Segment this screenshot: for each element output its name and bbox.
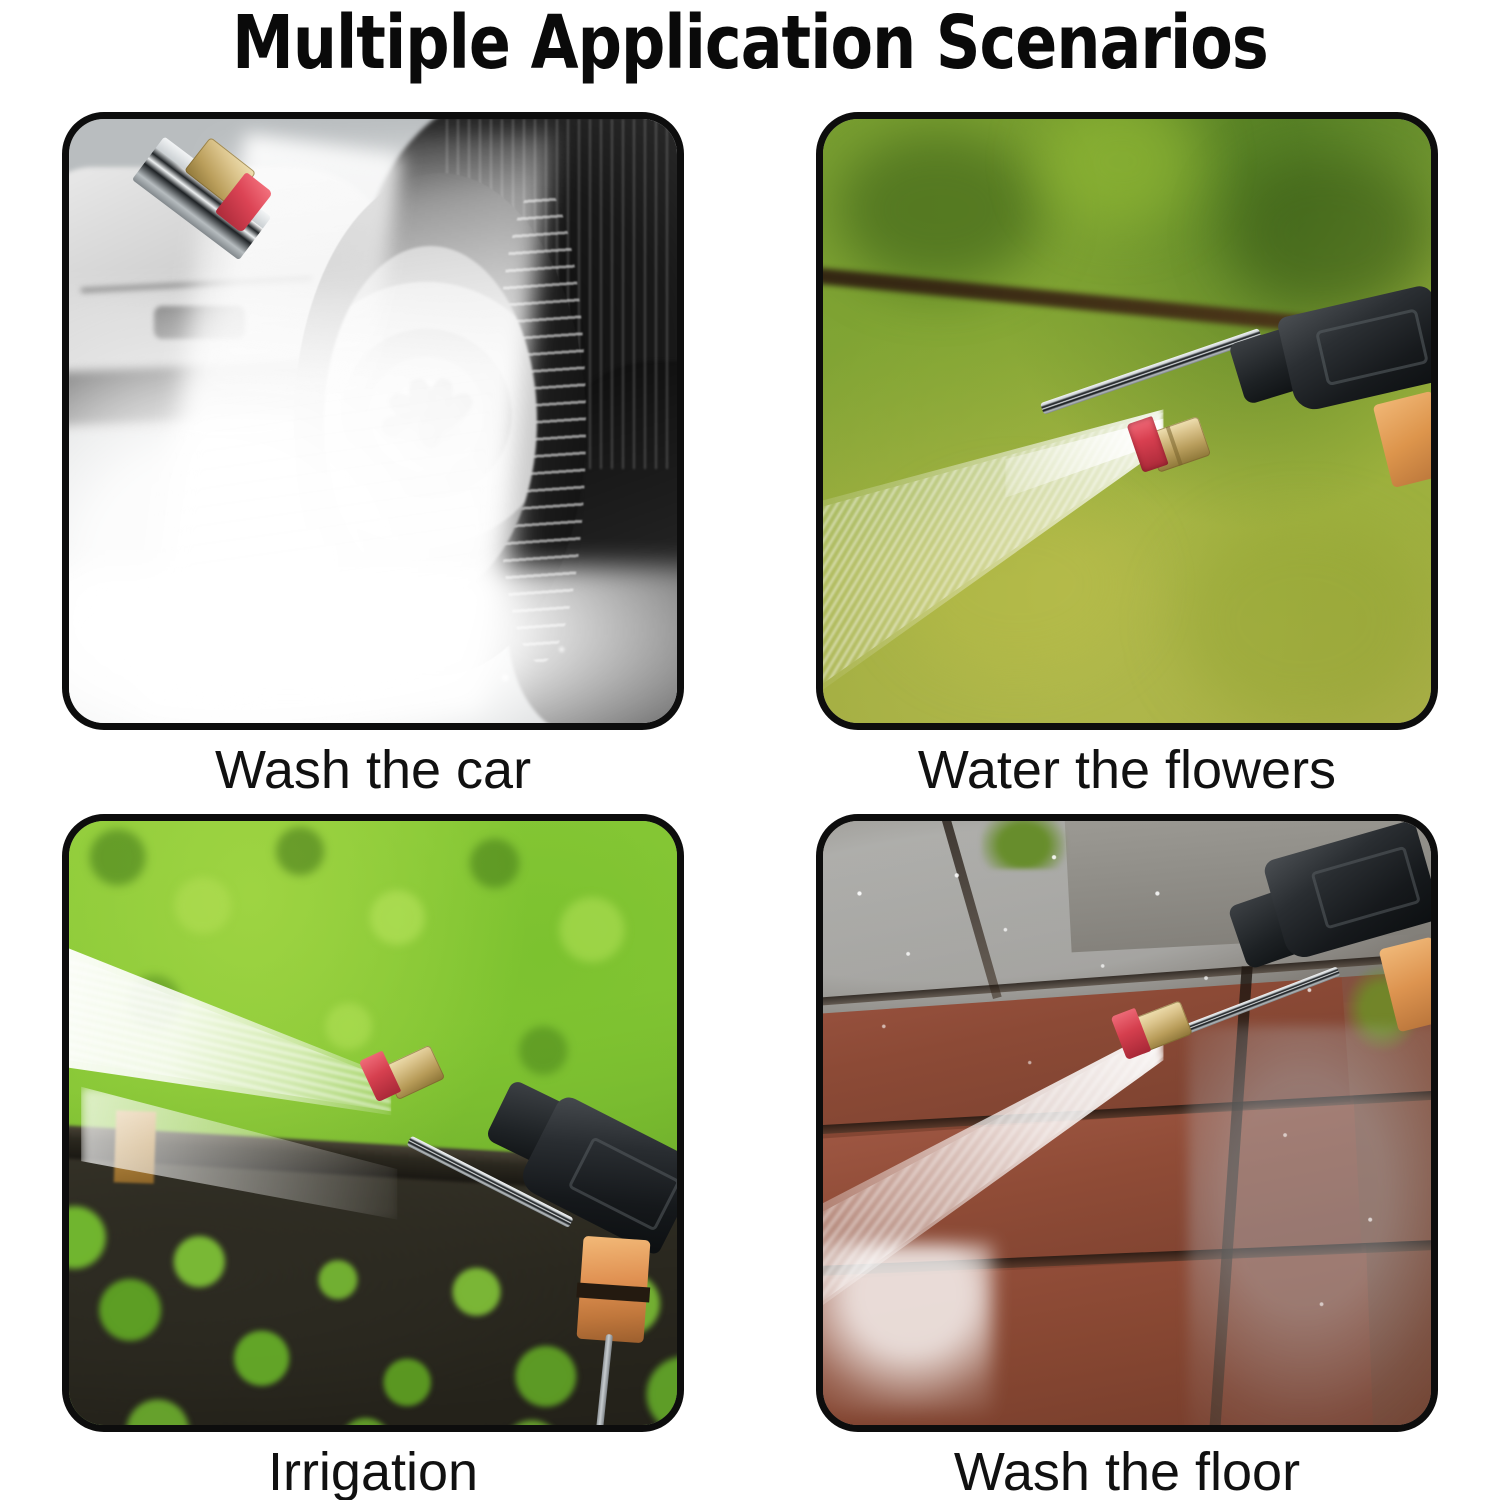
lance-tube bbox=[1040, 328, 1262, 415]
photo-car-wash bbox=[69, 119, 677, 723]
water-splash-droplets bbox=[251, 608, 604, 717]
scenario-cell-wash-the-car: Wash the car bbox=[62, 112, 684, 810]
photo-washing-floor bbox=[823, 821, 1431, 1425]
scenario-cell-irrigation: Irrigation bbox=[62, 814, 684, 1500]
caption-water-the-flowers: Water the flowers bbox=[816, 730, 1438, 810]
photo-watering-flowers bbox=[823, 119, 1431, 723]
hose-coupling bbox=[576, 1236, 650, 1343]
scenario-image-water-the-flowers[interactable] bbox=[816, 112, 1438, 730]
caption-irrigation: Irrigation bbox=[62, 1432, 684, 1500]
scenario-image-wash-the-floor[interactable] bbox=[816, 814, 1438, 1432]
caption-wash-the-car: Wash the car bbox=[62, 730, 684, 810]
page-title: Multiple Application Scenarios bbox=[53, 0, 1448, 92]
grass-bokeh bbox=[1176, 518, 1431, 723]
scenario-image-wash-the-car[interactable] bbox=[62, 112, 684, 730]
scenario-cell-water-the-flowers: Water the flowers bbox=[816, 112, 1438, 810]
grayscale-layer bbox=[69, 119, 677, 723]
caption-wash-the-floor: Wash the floor bbox=[816, 1432, 1438, 1500]
grass-bokeh bbox=[1042, 119, 1200, 228]
grass-bokeh bbox=[835, 131, 1042, 288]
water-jet-mist bbox=[823, 1244, 993, 1413]
infographic-page: Multiple Application Scenarios bbox=[0, 0, 1500, 1500]
hose-coupling bbox=[1373, 391, 1431, 488]
photo-irrigation bbox=[69, 821, 677, 1425]
grass-bokeh bbox=[1224, 155, 1431, 312]
scenario-cell-wash-the-floor: Wash the floor bbox=[816, 814, 1438, 1500]
scenario-image-irrigation[interactable] bbox=[62, 814, 684, 1432]
scenario-grid: Wash the car bbox=[62, 112, 1438, 1432]
